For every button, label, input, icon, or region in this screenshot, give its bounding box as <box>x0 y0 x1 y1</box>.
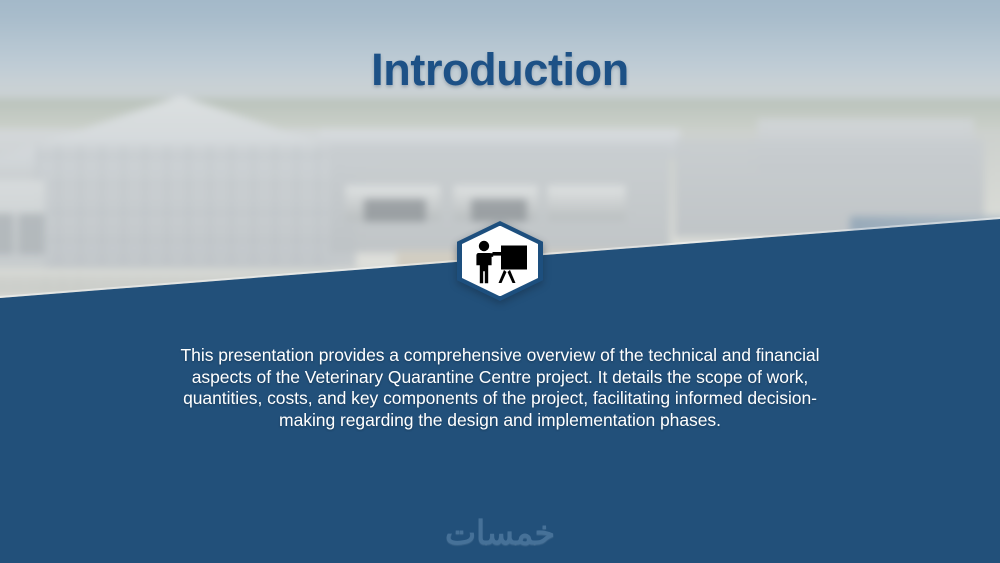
khamsat-watermark: خمسات <box>0 513 1000 552</box>
presentation-slide: Introduction This presentation provides … <box>0 0 1000 563</box>
window-panel <box>18 213 45 254</box>
window-panel <box>0 213 14 254</box>
truck-shadow <box>471 199 527 222</box>
building-left-glass-facade <box>37 144 336 268</box>
truck <box>547 186 625 221</box>
body-paragraph: This presentation provides a comprehensi… <box>160 345 840 431</box>
page-title: Introduction <box>0 44 1000 96</box>
hexagon-badge <box>457 221 543 301</box>
presenter-board-icon <box>457 221 543 301</box>
truck-shadow <box>364 199 426 222</box>
